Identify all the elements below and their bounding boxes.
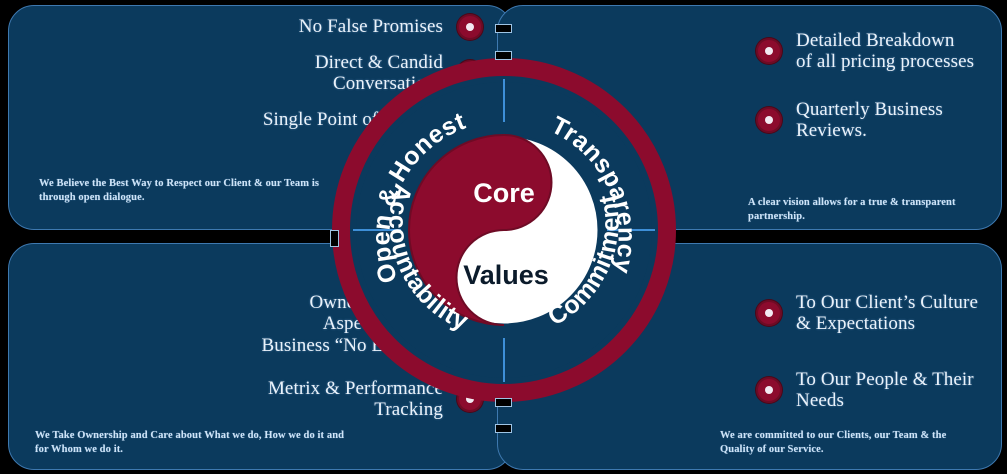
selection-handle-bottom[interactable] xyxy=(495,424,512,433)
core-label: Core xyxy=(473,178,535,208)
list-item[interactable]: To Our Client’s Culture & Expectations xyxy=(756,292,996,335)
list-item-label: Detailed Breakdown of all pricing proces… xyxy=(796,30,974,73)
bullet-dot-icon xyxy=(756,300,782,326)
list-item[interactable]: Detailed Breakdown of all pricing proces… xyxy=(756,30,996,73)
quadrant-caption: We Take Ownership and Care about What we… xyxy=(35,429,355,457)
core-values-wheel[interactable]: Open & Honest Transparency Accountabilit… xyxy=(321,22,687,452)
selection-handle-left[interactable] xyxy=(330,230,339,247)
selection-handle-bottom-inner[interactable] xyxy=(495,398,512,407)
list-item[interactable]: Quarterly Business Reviews. xyxy=(756,99,996,142)
values-label: Values xyxy=(463,260,549,290)
list-item[interactable]: To Our People & Their Needs xyxy=(756,369,996,412)
bullet-dot-icon xyxy=(756,107,782,133)
infographic-canvas: No False Promises Direct & Candid Conver… xyxy=(0,0,1007,474)
bullet-dot-icon xyxy=(756,377,782,403)
quadrant-caption: We are committed to our Clients, our Tea… xyxy=(720,429,980,457)
bullet-list-transparency: Detailed Breakdown of all pricing proces… xyxy=(756,30,996,167)
selection-handle-top[interactable] xyxy=(495,24,512,33)
list-item-label: To Our People & Their Needs xyxy=(796,369,974,412)
quadrant-caption: We Believe the Best Way to Respect our C… xyxy=(39,177,339,205)
selection-handle-top-inner[interactable] xyxy=(495,51,512,60)
quadrant-caption: A clear vision allows for a true & trans… xyxy=(748,196,998,224)
bullet-list-commitment: To Our Client’s Culture & Expectations T… xyxy=(756,292,996,445)
bullet-dot-icon xyxy=(756,38,782,64)
list-item-label: Quarterly Business Reviews. xyxy=(796,99,943,142)
list-item-label: To Our Client’s Culture & Expectations xyxy=(796,292,978,335)
